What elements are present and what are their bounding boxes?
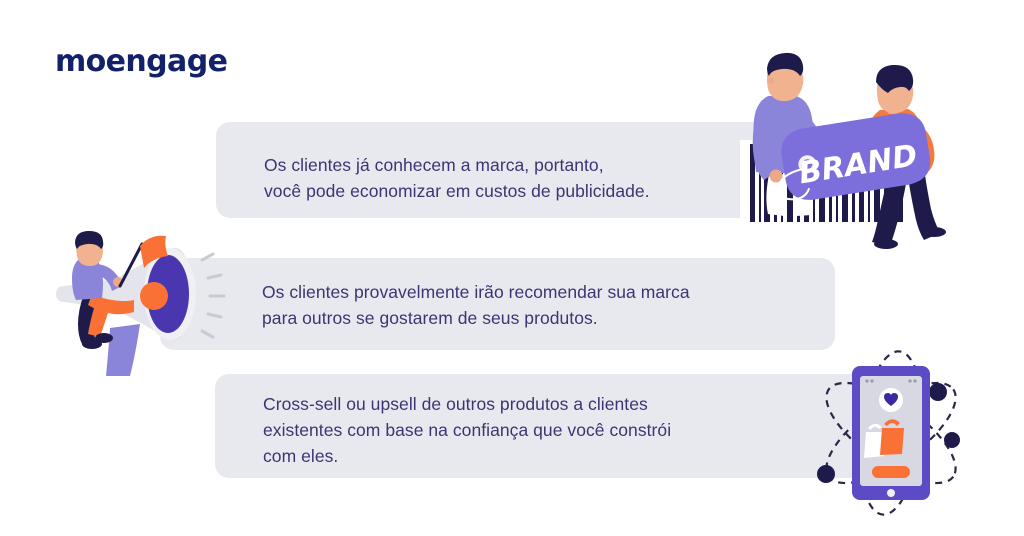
orbit-node [944,432,960,448]
smartphone-icon [852,366,930,500]
benefit-card-recommendation-text: Os clientes provavelmente irão recomenda… [262,279,802,331]
cta-button [872,466,910,478]
megaphone-flag-illustration [48,232,258,380]
brand-tag-barcode-illustration: BRAND [740,52,980,252]
moengage-logo: moengage [55,44,255,80]
smartphone-orbit-illustration [786,348,996,518]
benefit-card-advertising-cost-text: Os clientes já conhecem a marca, portant… [264,152,784,204]
infographic-canvas: moengage Os clientes já conhecem a marca… [0,0,1024,536]
benefit-card-cross-sell-text: Cross-sell ou upsell de outros produtos … [263,391,783,469]
sound-wave-lines [202,254,224,337]
logo-wordmark: moengage [55,44,255,80]
orbit-node [817,465,835,483]
orbit-node [929,383,947,401]
